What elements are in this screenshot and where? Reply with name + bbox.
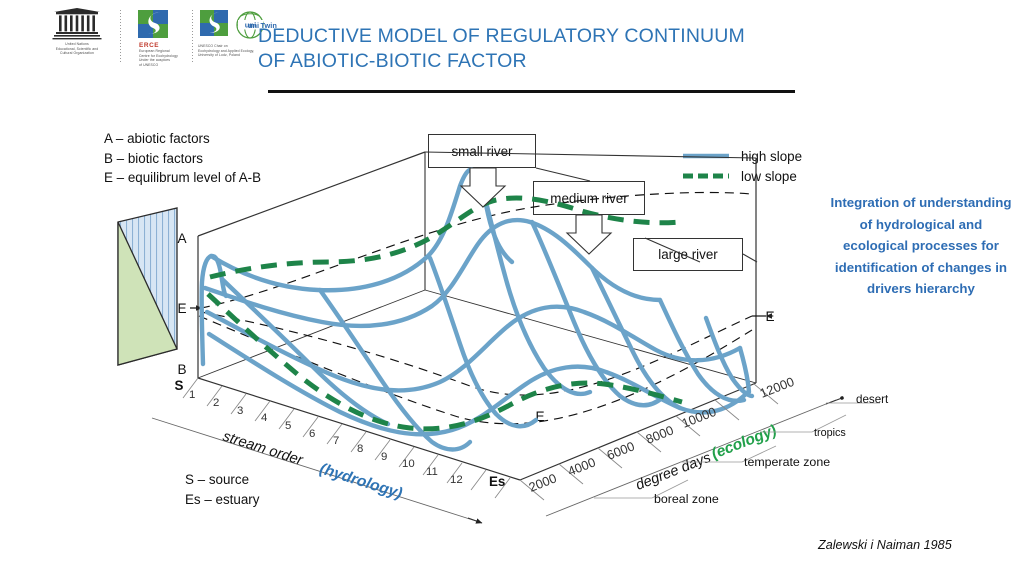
degree-days-tick-12000: 12000 [758,374,797,401]
stream-order-axis-title-plain: stream order [221,429,306,470]
ab-factors-swatch [118,208,177,365]
stream-order-tick-1: 1 [189,389,195,401]
stream-order-axis-title-accent: (hydrology) [317,460,404,502]
climate-zone-temperate: temperate zone [744,455,830,469]
source-citation: Zalewski i Naiman 1985 [818,538,952,552]
degree-days-tick-8000: 8000 [644,422,676,446]
stream-order-start-label: S [175,378,184,393]
stream-order-tick-8: 8 [357,443,363,455]
degree-days-tick-2000: 2000 [527,470,559,494]
regulatory-continuum-3d-diagram: A E B E E [0,0,1024,576]
stream-order-tick-10: 10 [402,458,415,470]
stream-order-tick-2: 2 [213,397,219,409]
stream-order-end-label: Es [489,474,505,489]
axis-label-A: A [177,231,187,246]
climate-zone-boreal: boreal zone [654,492,719,506]
high-slope-surface-mesh [202,169,752,449]
equilibrium-plane-lines [199,193,752,424]
degree-days-tick-6000: 6000 [605,438,637,462]
stream-order-tick-6: 6 [309,428,315,440]
stream-order-tick-12: 12 [450,474,463,486]
stream-order-tick-9: 9 [381,451,387,463]
axis-label-B: B [177,362,186,377]
stream-order-tick-3: 3 [237,405,243,417]
callout-leaders [0,0,611,254]
climate-zone-tropics: tropics [814,427,846,439]
stream-order-tick-7: 7 [333,435,339,447]
stream-order-tick-11: 11 [426,466,438,478]
climate-zone-desert: desert [856,393,889,406]
stream-order-tick-4: 4 [261,412,267,424]
degree-days-tick-4000: 4000 [566,454,598,478]
axis-label-E-right: E [765,309,774,324]
stream-order-tick-5: 5 [285,420,291,432]
axis-label-E-left: E [177,301,186,316]
